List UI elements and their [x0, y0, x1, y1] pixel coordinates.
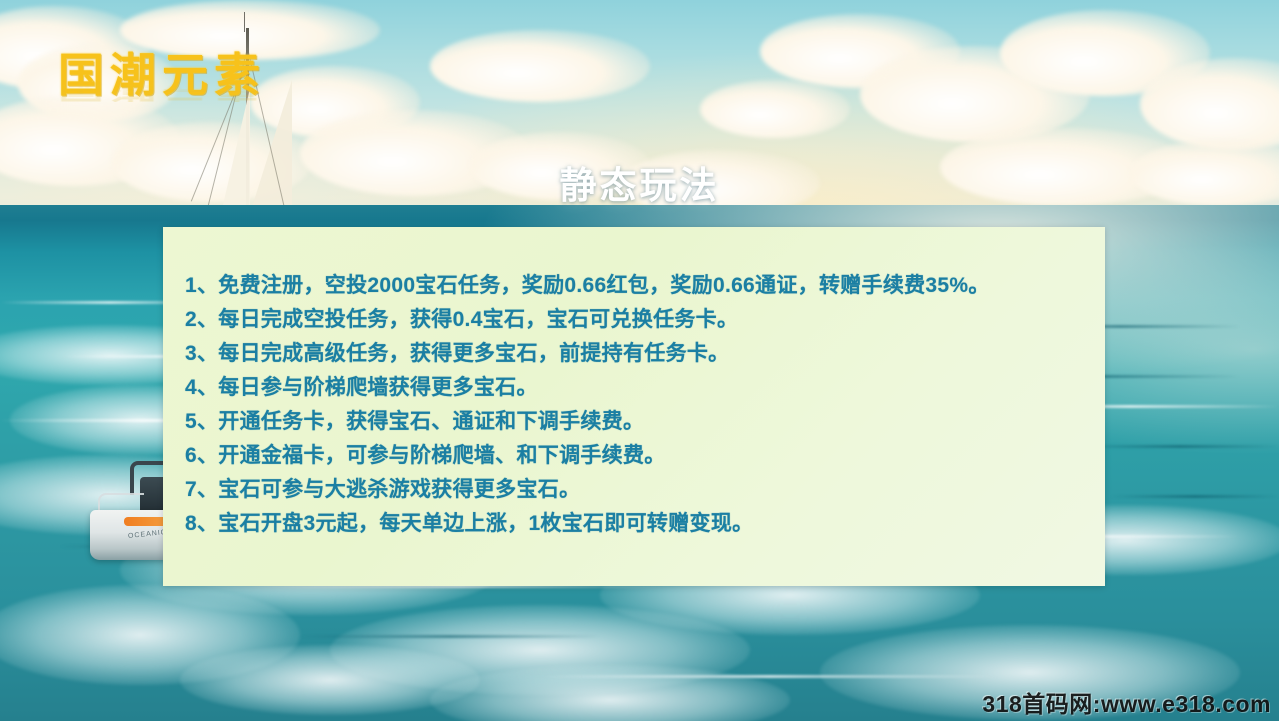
- bullet-item: 5、开通任务卡，获得宝石、通证和下调手续费。: [185, 405, 1075, 439]
- brand-logo-reflection: 国潮元素: [58, 73, 358, 102]
- content-panel: 1、免费注册，空投2000宝石任务，奖励0.66红包，奖励0.66通证，转赠手续…: [163, 227, 1105, 586]
- slide-title: 静态玩法: [0, 155, 1279, 209]
- wave-streak: [540, 675, 1000, 678]
- content-panel-body: 1、免费注册，空投2000宝石任务，奖励0.66红包，奖励0.66通证，转赠手续…: [163, 227, 1105, 541]
- bullet-item: 1、免费注册，空投2000宝石任务，奖励0.66红包，奖励0.66通证，转赠手续…: [185, 269, 1075, 303]
- wave-shadow-streak: [1080, 445, 1279, 448]
- bullet-item: 7、宝石可参与大逃杀游戏获得更多宝石。: [185, 473, 1075, 507]
- cloud-icon: [430, 30, 650, 102]
- site-watermark: 318首码网:www.e318.com: [982, 685, 1271, 719]
- presentation-slide: OCEANIC 国潮元素 国潮元素 静态玩法 1、免费注册，空投2000宝石任务…: [0, 0, 1279, 721]
- bullet-item: 3、每日完成高级任务，获得更多宝石，前提持有任务卡。: [185, 337, 1075, 371]
- cloud-icon: [700, 80, 850, 138]
- bullet-item: 8、宝石开盘3元起，每天单边上涨，1枚宝石即可转赠变现。: [185, 507, 1075, 541]
- bullet-item: 6、开通金福卡，可参与阶梯爬墙、和下调手续费。: [185, 439, 1075, 473]
- mast-antenna-icon: [244, 12, 245, 32]
- bullet-item: 4、每日参与阶梯爬墙获得更多宝石。: [185, 371, 1075, 405]
- wave-shadow-streak: [1110, 495, 1279, 498]
- brand-logo: 国潮元素 国潮元素: [58, 52, 358, 148]
- wave-shadow-streak: [300, 635, 600, 638]
- bullet-item: 2、每日完成空投任务，获得0.4宝石，宝石可兑换任务卡。: [185, 303, 1075, 337]
